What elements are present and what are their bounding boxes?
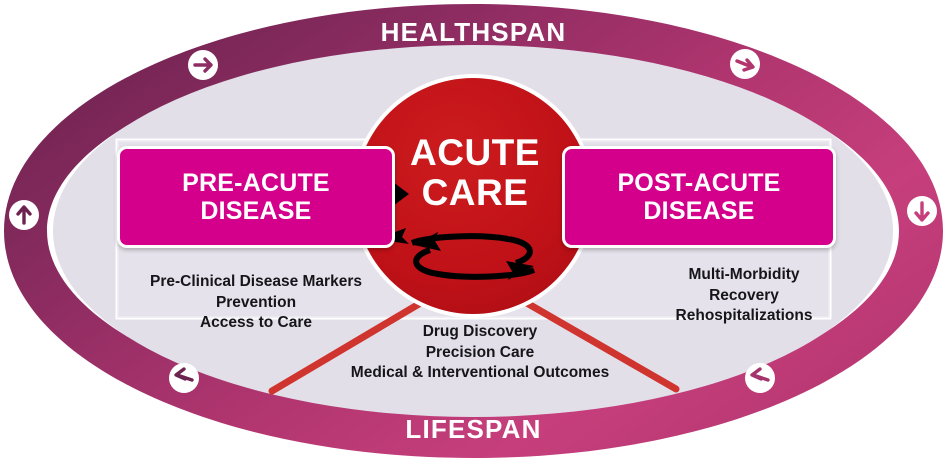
healthspan-label: HEALTHSPAN: [0, 17, 947, 48]
post-acute-line1: POST-ACUTE: [617, 169, 780, 197]
center-text-line-1: Drug Discovery: [280, 322, 680, 343]
diagram-canvas: HEALTHSPAN LIFESPAN ACUTE CARE PRE-ACUTE…: [0, 0, 947, 462]
ring-arrow-bottom-left: [169, 363, 199, 393]
ring-arrow-top-right: [730, 49, 760, 79]
center-text-line-2: Precision Care: [280, 343, 680, 364]
pre-acute-line1: PRE-ACUTE: [182, 169, 330, 197]
post-acute-line2: DISEASE: [617, 197, 780, 225]
post-text-line-1: Multi-Morbidity: [608, 265, 880, 286]
pre-text-line-2: Prevention: [112, 293, 400, 314]
ring-arrow-top-left: [188, 50, 218, 80]
ring-arrow-bottom-right: [745, 363, 775, 393]
post-acute-disease-box[interactable]: POST-ACUTE DISEASE: [562, 146, 836, 248]
acute-care-text-block: Drug Discovery Precision Care Medical & …: [280, 322, 680, 384]
center-text-line-3: Medical & Interventional Outcomes: [280, 363, 680, 384]
ring-arrow-right: [907, 196, 937, 226]
pre-text-line-1: Pre-Clinical Disease Markers: [112, 272, 400, 293]
lifespan-label: LIFESPAN: [0, 414, 947, 445]
pre-acute-disease-box[interactable]: PRE-ACUTE DISEASE: [117, 146, 395, 248]
post-text-line-2: Recovery: [608, 286, 880, 307]
post-acute-text-block: Multi-Morbidity Recovery Rehospitalizati…: [608, 265, 880, 327]
ring-arrow-left: [9, 200, 39, 230]
pre-acute-line2: DISEASE: [182, 197, 330, 225]
